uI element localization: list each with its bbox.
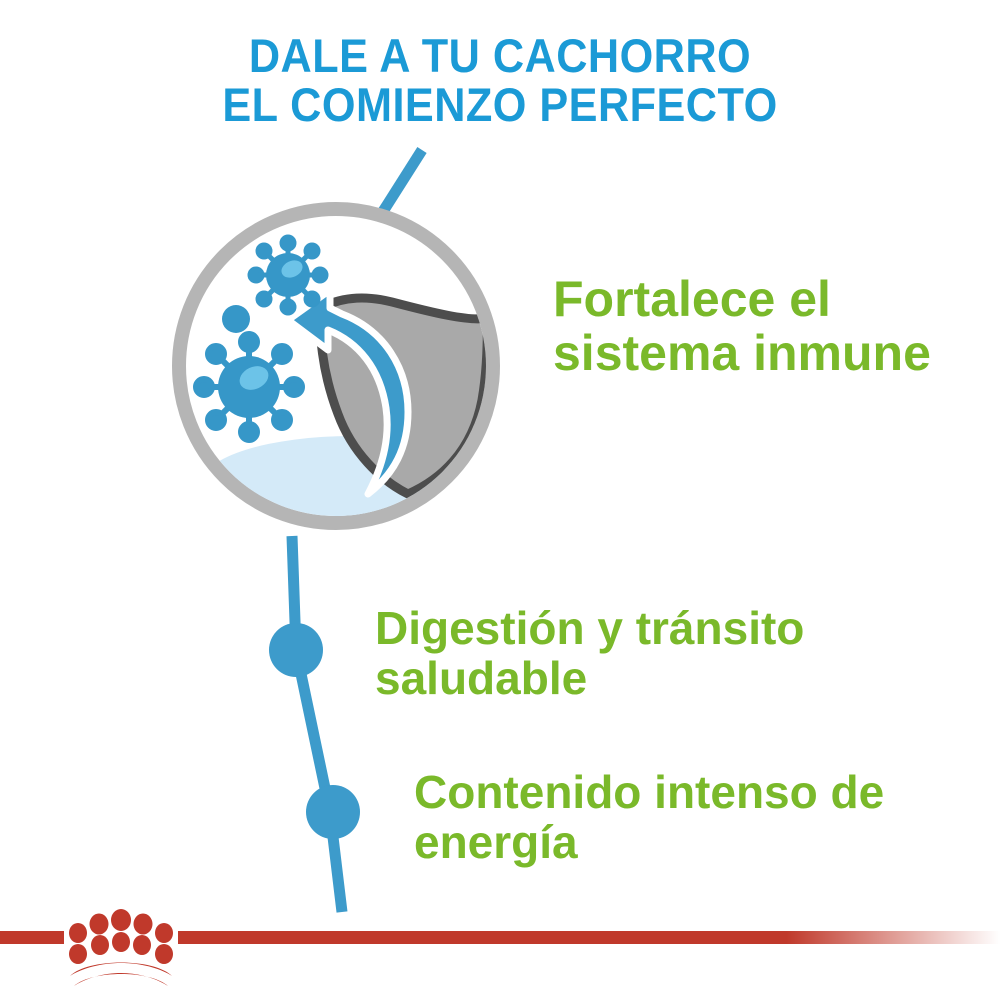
virus-icon — [196, 334, 302, 440]
footer-brand-bar — [0, 900, 1000, 1000]
royal-canin-crown-logo — [69, 909, 173, 986]
brand-rule-right — [178, 931, 1000, 944]
benefit-label-digestion: Digestión y tránsito saludable — [375, 604, 955, 703]
virus-dot-icon — [222, 305, 250, 333]
page-title: DALE A TU CACHORRO EL COMIENZO PERFECTO — [40, 32, 960, 130]
brand-rule-left — [0, 931, 64, 944]
benefit-label-immune: Fortalece el sistema inmune — [553, 272, 953, 380]
page-title-line-2: EL COMIENZO PERFECTO — [40, 81, 960, 130]
connector-node-icon — [306, 785, 360, 839]
virus-icon — [250, 237, 326, 313]
shield-immune-icon — [179, 209, 502, 530]
page-title-line-1: DALE A TU CACHORRO — [40, 32, 960, 81]
benefit-label-energy: Contenido intenso de energía — [414, 768, 974, 867]
poster-canvas: DALE A TU CACHORRO EL COMIENZO PERFECTO … — [0, 0, 1000, 1000]
connector-node-icon — [269, 623, 323, 677]
